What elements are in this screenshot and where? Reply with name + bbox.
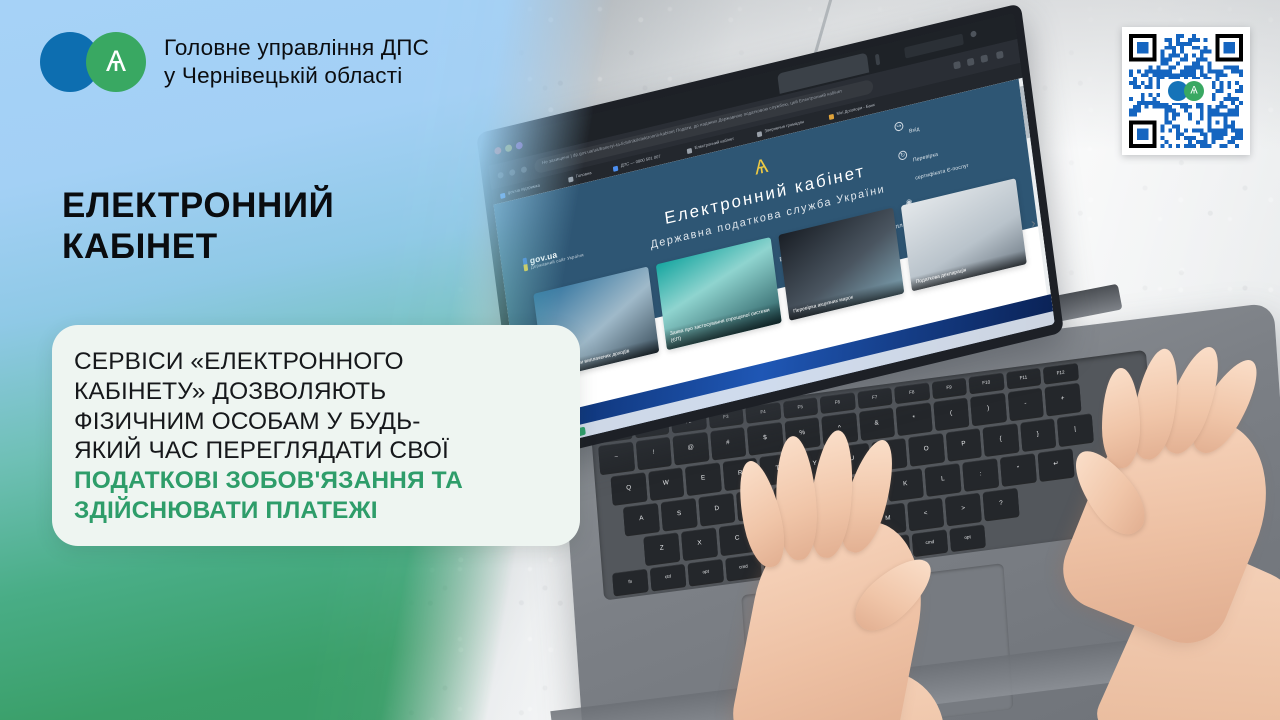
organization-name: Головне управління ДПС у Чернівецькій об… xyxy=(164,34,429,90)
trident-emblem-icon: Ѧ xyxy=(754,156,770,179)
keyboard-key[interactable]: F6 xyxy=(820,392,855,412)
keyboard-key[interactable]: ( xyxy=(933,398,969,430)
qr-center-logo: Ѧ xyxy=(1160,79,1212,103)
keyboard-key[interactable]: F5 xyxy=(783,397,818,417)
keyboard-key[interactable]: F8 xyxy=(894,382,929,402)
qr-code-modules: Ѧ xyxy=(1129,34,1243,148)
new-tab-button[interactable] xyxy=(875,54,880,66)
service-card-caption: Перевірка акцизних марок xyxy=(788,279,905,321)
service-card-caption: Заява про застосування спрощеної системи… xyxy=(664,302,781,350)
organization-header: Ѧ Головне управління ДПС у Чернівецькій … xyxy=(40,32,429,92)
trident-icon: Ѧ xyxy=(106,47,126,77)
keyboard-key[interactable]: ! xyxy=(635,437,671,469)
login-icon: ↪ xyxy=(894,121,904,132)
menu-icon[interactable] xyxy=(996,51,1004,60)
keyboard-key[interactable]: S xyxy=(661,498,698,531)
hero-link-label: Вхід xyxy=(909,126,920,134)
keyboard-key[interactable]: F7 xyxy=(857,387,892,407)
keyboard-key[interactable]: X xyxy=(681,527,718,560)
hero-link-label: Перевірка сертифіката Є-послуг xyxy=(913,152,970,182)
keyboard-key[interactable]: F10 xyxy=(969,373,1004,393)
extensions-icon[interactable] xyxy=(953,61,961,70)
qr-code[interactable]: Ѧ xyxy=(1122,27,1250,155)
keyboard-key[interactable]: E xyxy=(685,462,721,494)
finger xyxy=(1102,368,1140,468)
logo-circle-green: Ѧ xyxy=(1184,81,1204,101)
message-accent: ПОДАТКОВІ ЗОБОВ'ЯЗАННЯ ТА ЗДІЙСНЮВАТИ ПЛ… xyxy=(74,466,556,526)
bookmark-star-icon[interactable] xyxy=(967,58,975,67)
left-hand xyxy=(720,430,1020,720)
trident-icon: Ѧ xyxy=(1190,86,1197,97)
downloads-icon[interactable] xyxy=(980,54,988,63)
service-card-caption: Податкова декларація xyxy=(910,249,1027,291)
keyboard-key[interactable]: ) xyxy=(970,393,1006,425)
page-title: ЕЛЕКТРОННИЙ КАБІНЕТ xyxy=(62,186,334,268)
clock-icon: ↻ xyxy=(898,150,908,161)
keyboard-key[interactable]: F9 xyxy=(931,378,966,398)
right-hand xyxy=(1030,348,1280,720)
message-body: СЕРВІСИ «ЕЛЕКТРОННОГО КАБІНЕТУ» ДОЗВОЛЯЮ… xyxy=(74,347,556,466)
profile-avatar[interactable] xyxy=(970,30,977,37)
keyboard-key[interactable]: ctrl xyxy=(650,564,686,591)
keyboard-key[interactable]: opt xyxy=(688,559,724,586)
keyboard-key[interactable]: @ xyxy=(673,432,709,464)
keyboard-key[interactable]: W xyxy=(648,467,684,499)
message-card: СЕРВІСИ «ЕЛЕКТРОННОГО КАБІНЕТУ» ДОЗВОЛЯЮ… xyxy=(52,325,580,546)
logo-circle-green: Ѧ xyxy=(86,32,146,92)
keyboard-key[interactable]: Z xyxy=(643,532,680,565)
